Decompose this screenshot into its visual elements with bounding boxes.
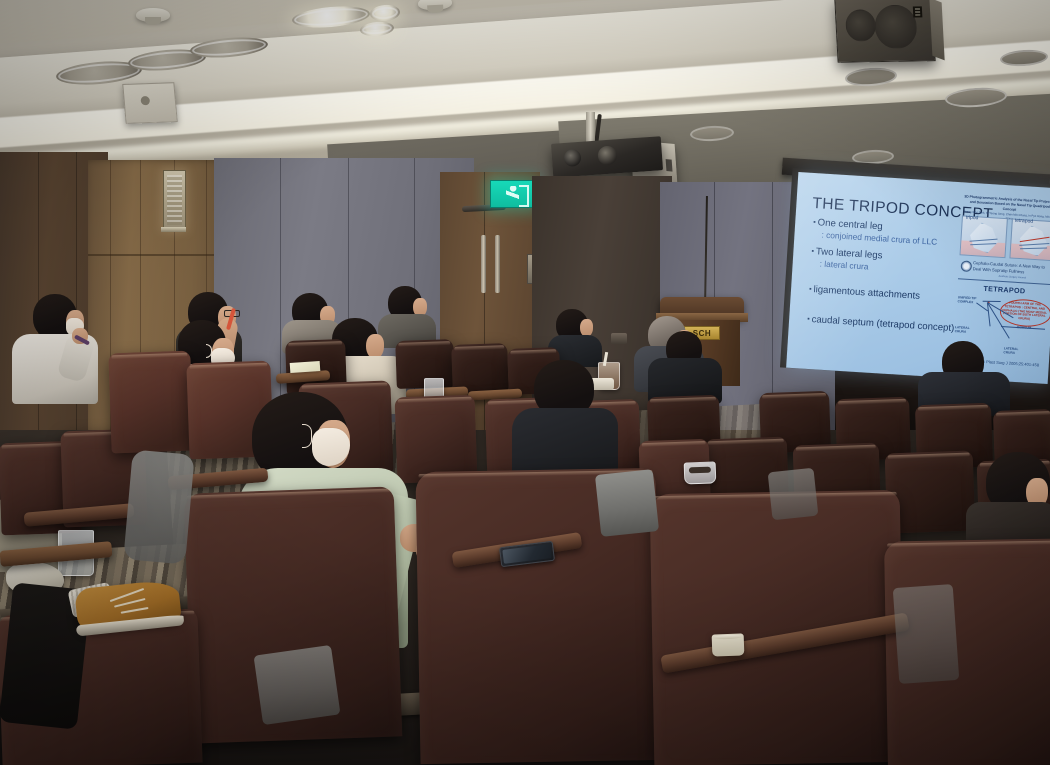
projector-lens-icon [597, 145, 617, 165]
slide-figure-label-tetrapod: tetrapod [1015, 218, 1034, 225]
journal-logo-icon [960, 260, 972, 272]
door-handle[interactable] [481, 235, 486, 293]
diagram-callout-text: FOURTH ARM OF THE TETRAPOD : CENTRAL AND… [1002, 301, 1048, 323]
seat-cushion [595, 469, 659, 537]
diagram-title: TETRAPOD [957, 282, 1050, 297]
slide-figure-tripod-image [960, 215, 1008, 258]
wall-outlet [611, 333, 627, 344]
door-handle[interactable] [495, 235, 500, 293]
wall-speaker [122, 82, 178, 124]
paper-sheet [290, 361, 321, 373]
diagram-label: LATERAL CRURA [1003, 346, 1021, 355]
exit-sign [490, 180, 534, 208]
exit-door-icon [519, 185, 529, 207]
wall-sconce-base [161, 227, 186, 232]
lecture-hall-photo: SCH THE TRIPOD CONCEPT One central leg :… [0, 0, 1050, 765]
slide-bullet-list: One central leg : conjoined medial crura… [807, 217, 964, 335]
running-man-icon [506, 186, 519, 203]
slide-bullet: caudal septum (tetrapod concept) [807, 314, 957, 334]
seat-cushion [123, 450, 194, 565]
wall-trim-line [88, 254, 228, 256]
paper-cup [712, 633, 745, 656]
diagram-label: LATERAL CRURA [955, 325, 973, 334]
projector-lens-icon [563, 149, 581, 167]
wall-sconce-light [163, 170, 186, 230]
seat-cushion [893, 584, 960, 684]
ceiling-speaker [834, 0, 935, 63]
seat [451, 343, 509, 393]
seat-cushion [254, 645, 341, 725]
smoke-detector-icon [136, 8, 170, 22]
slide-figure-tetrapod-image [1009, 218, 1050, 261]
seat-cushion [768, 468, 819, 521]
seat [395, 395, 478, 484]
projection-screen: THE TRIPOD CONCEPT One central leg : con… [786, 172, 1050, 384]
snack-bowl [684, 461, 717, 484]
slide-figure-label-tripod: tripod [966, 215, 979, 222]
seat [108, 351, 193, 454]
